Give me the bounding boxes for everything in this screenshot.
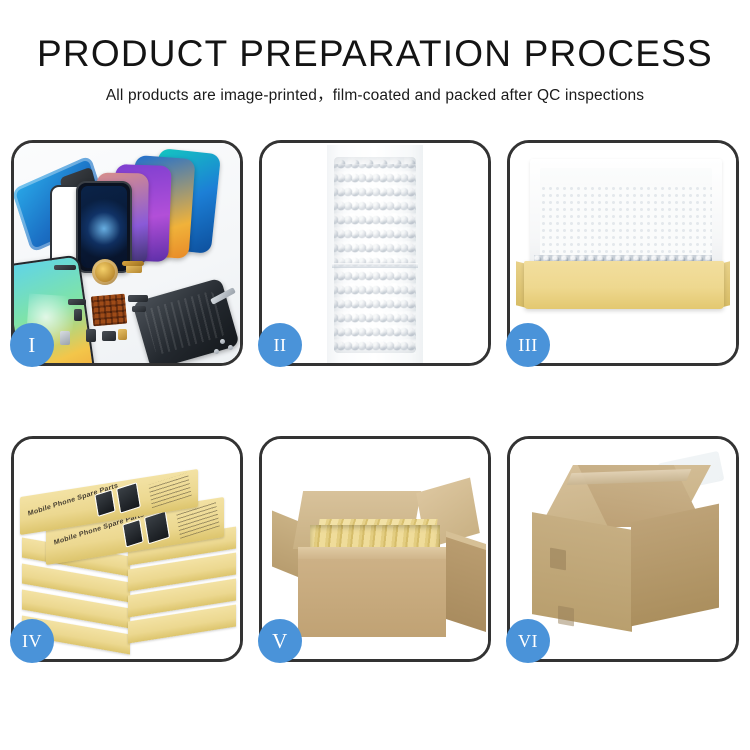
screw-1 [220,339,225,344]
foam-sheet [540,185,712,263]
part-chip-5 [128,295,148,302]
box-thumb-2b [144,511,170,545]
product-preparation-infographic: PRODUCT PREPARATION PROCESS All products… [0,0,750,750]
page-subtitle: All products are image-printed，film-coat… [0,83,750,105]
step-badge-v: V [258,619,302,663]
part-chip-1 [54,265,76,270]
carton-right-face [631,504,719,627]
process-step-panel-v: V [259,436,491,662]
process-step-panel-iii: III [507,140,739,366]
page-title: PRODUCT PREPARATION PROCESS [0,34,750,74]
carton-tab-upper [550,548,566,571]
box-thumb-1b [116,482,141,514]
carton-tab-lower [558,606,574,627]
step-badge-iii: III [506,323,550,367]
box-thumb-1a [94,489,115,517]
part-chip-10 [60,331,70,345]
part-chip-2 [126,265,142,273]
wrap-seam [332,263,418,268]
step-badge-vi: VI [506,619,550,663]
carton-side-panel [446,537,486,632]
speaker-coil-icon [92,259,118,285]
part-chip-4 [74,309,82,321]
part-chip-6 [132,306,146,312]
process-step-panel-ii: II [259,140,491,366]
part-chip-8 [102,331,116,341]
process-step-panel-vi: VI [507,436,739,662]
step-badge-ii: II [258,323,302,367]
box-thumb-2a [122,519,144,548]
box-text-lines-1 [148,473,191,509]
part-chip-3 [68,299,86,305]
bubble-wrap-layer-back [334,164,416,354]
process-step-panel-i: I [11,140,243,366]
process-step-grid: I II [11,140,739,662]
yellow-box-tray [524,261,724,309]
screw-2 [228,345,233,350]
part-chip-7 [86,329,96,342]
carton-front-panel [298,559,446,637]
header: PRODUCT PREPARATION PROCESS All products… [0,34,750,105]
process-step-panel-iv: Mobile Phone Spare Parts Mobile Phone Sp… [11,436,243,662]
connector-grid-icon [91,294,127,327]
carton-left-face [532,512,632,632]
part-flex-1 [122,261,144,266]
step-badge-i: I [10,323,54,367]
step-badge-iv: IV [10,619,54,663]
screw-3 [214,349,219,354]
part-chip-9 [118,329,127,340]
